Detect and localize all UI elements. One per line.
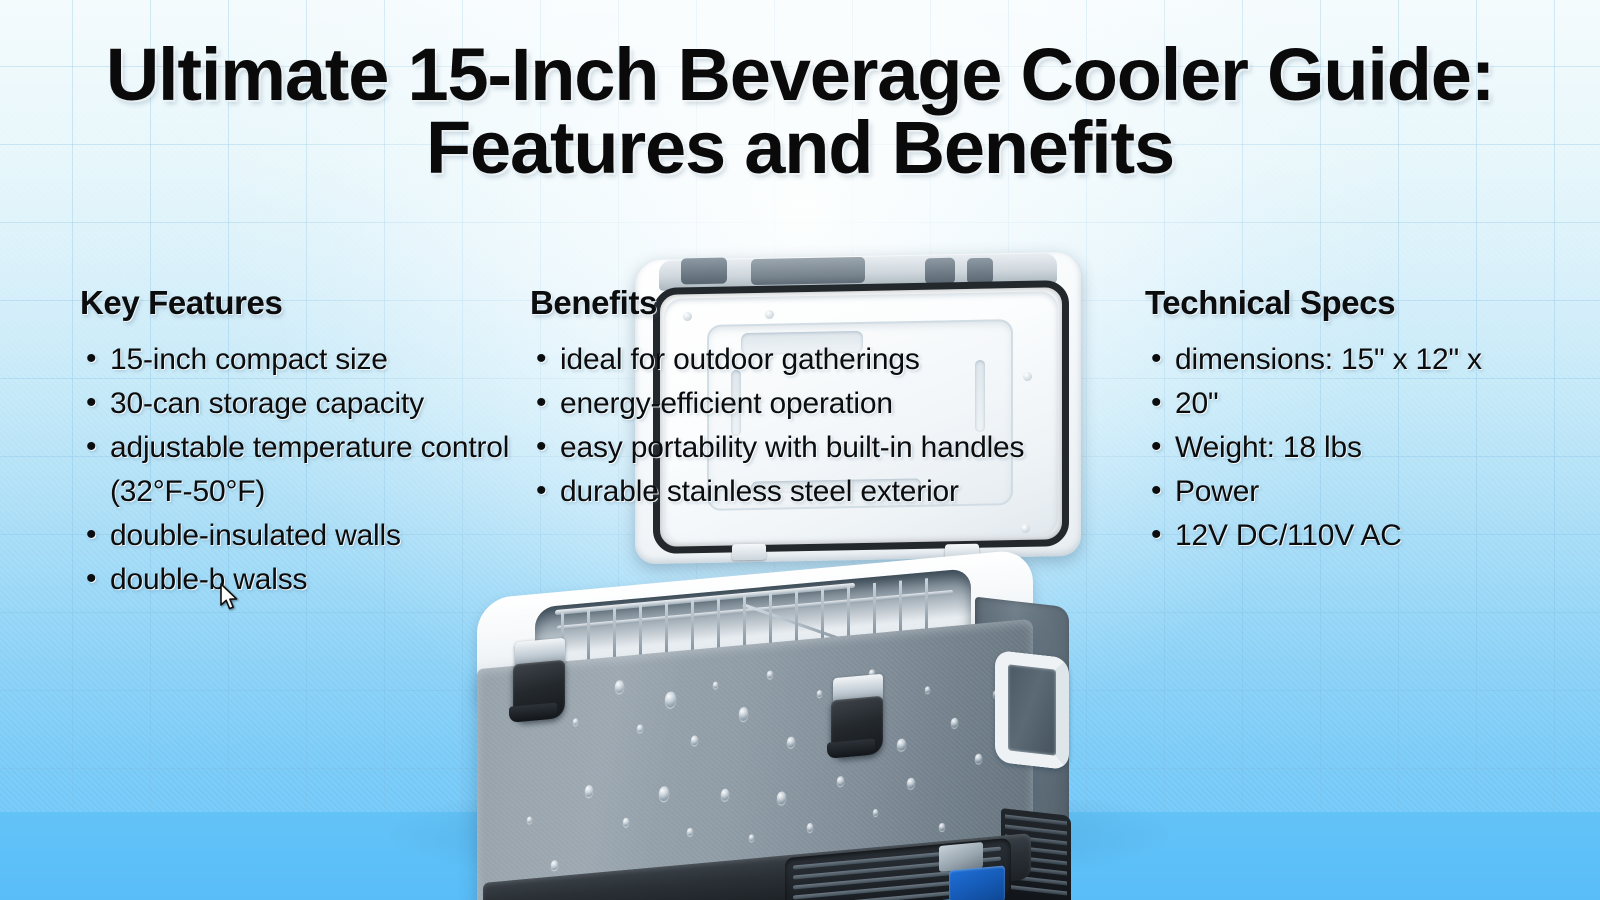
cooler-latch-left [511, 637, 569, 728]
list-item: ideal for outdoor gatherings [530, 338, 1090, 382]
cooler-hinge [967, 258, 993, 284]
technical-specs-list: dimensions: 15" x 12" x 20" Weight: 18 l… [1145, 338, 1565, 558]
list-item: Weight: 18 lbs [1145, 426, 1565, 470]
cooler-lid-catch [732, 544, 766, 561]
column-key-features: Key Features 15-inch compact size 30-can… [80, 284, 510, 603]
column-heading-technical-specs: Technical Specs [1145, 284, 1565, 322]
list-item: durable stainless steel exterior [530, 470, 1090, 514]
benefits-list: ideal for outdoor gatherings energy-effi… [530, 338, 1090, 514]
column-benefits: Benefits ideal for outdoor gatherings en… [530, 284, 1090, 514]
cooler-control-badge [949, 865, 1005, 900]
column-technical-specs: Technical Specs dimensions: 15" x 12" x … [1145, 284, 1565, 558]
cooler-hinge [681, 258, 727, 285]
cooler-hinge [925, 258, 955, 285]
cooler-side-handle [993, 648, 1071, 773]
column-heading-key-features: Key Features [80, 284, 510, 322]
column-heading-benefits: Benefits [530, 284, 1090, 322]
list-item: Power [1145, 470, 1565, 514]
cooler-hinge [751, 257, 865, 285]
poster-canvas: Ultimate 15-Inch Beverage Cooler Guide: … [0, 0, 1600, 900]
list-item: 20" [1145, 382, 1565, 426]
list-item: 12V DC/110V AC [1145, 514, 1565, 558]
page-title: Ultimate 15-Inch Beverage Cooler Guide: … [0, 38, 1600, 185]
list-item: adjustable temperature control (32°F-50°… [80, 426, 510, 514]
list-item: easy portability with built-in handles [530, 426, 1090, 470]
key-features-list: 15-inch compact size 30-can storage capa… [80, 338, 510, 603]
handle-grip [995, 650, 1069, 770]
latch-lip [509, 702, 557, 722]
list-item: 15-inch compact size [80, 338, 510, 382]
list-item: double-insulated walls [80, 514, 510, 558]
list-item: energy-efficient operation [530, 382, 1090, 426]
cooler-latch-right [829, 673, 887, 764]
list-item: dimensions: 15" x 12" x [1145, 338, 1565, 382]
list-item: double-b walss [80, 558, 510, 602]
latch-lip [827, 738, 875, 758]
list-item: 30-can storage capacity [80, 382, 510, 426]
